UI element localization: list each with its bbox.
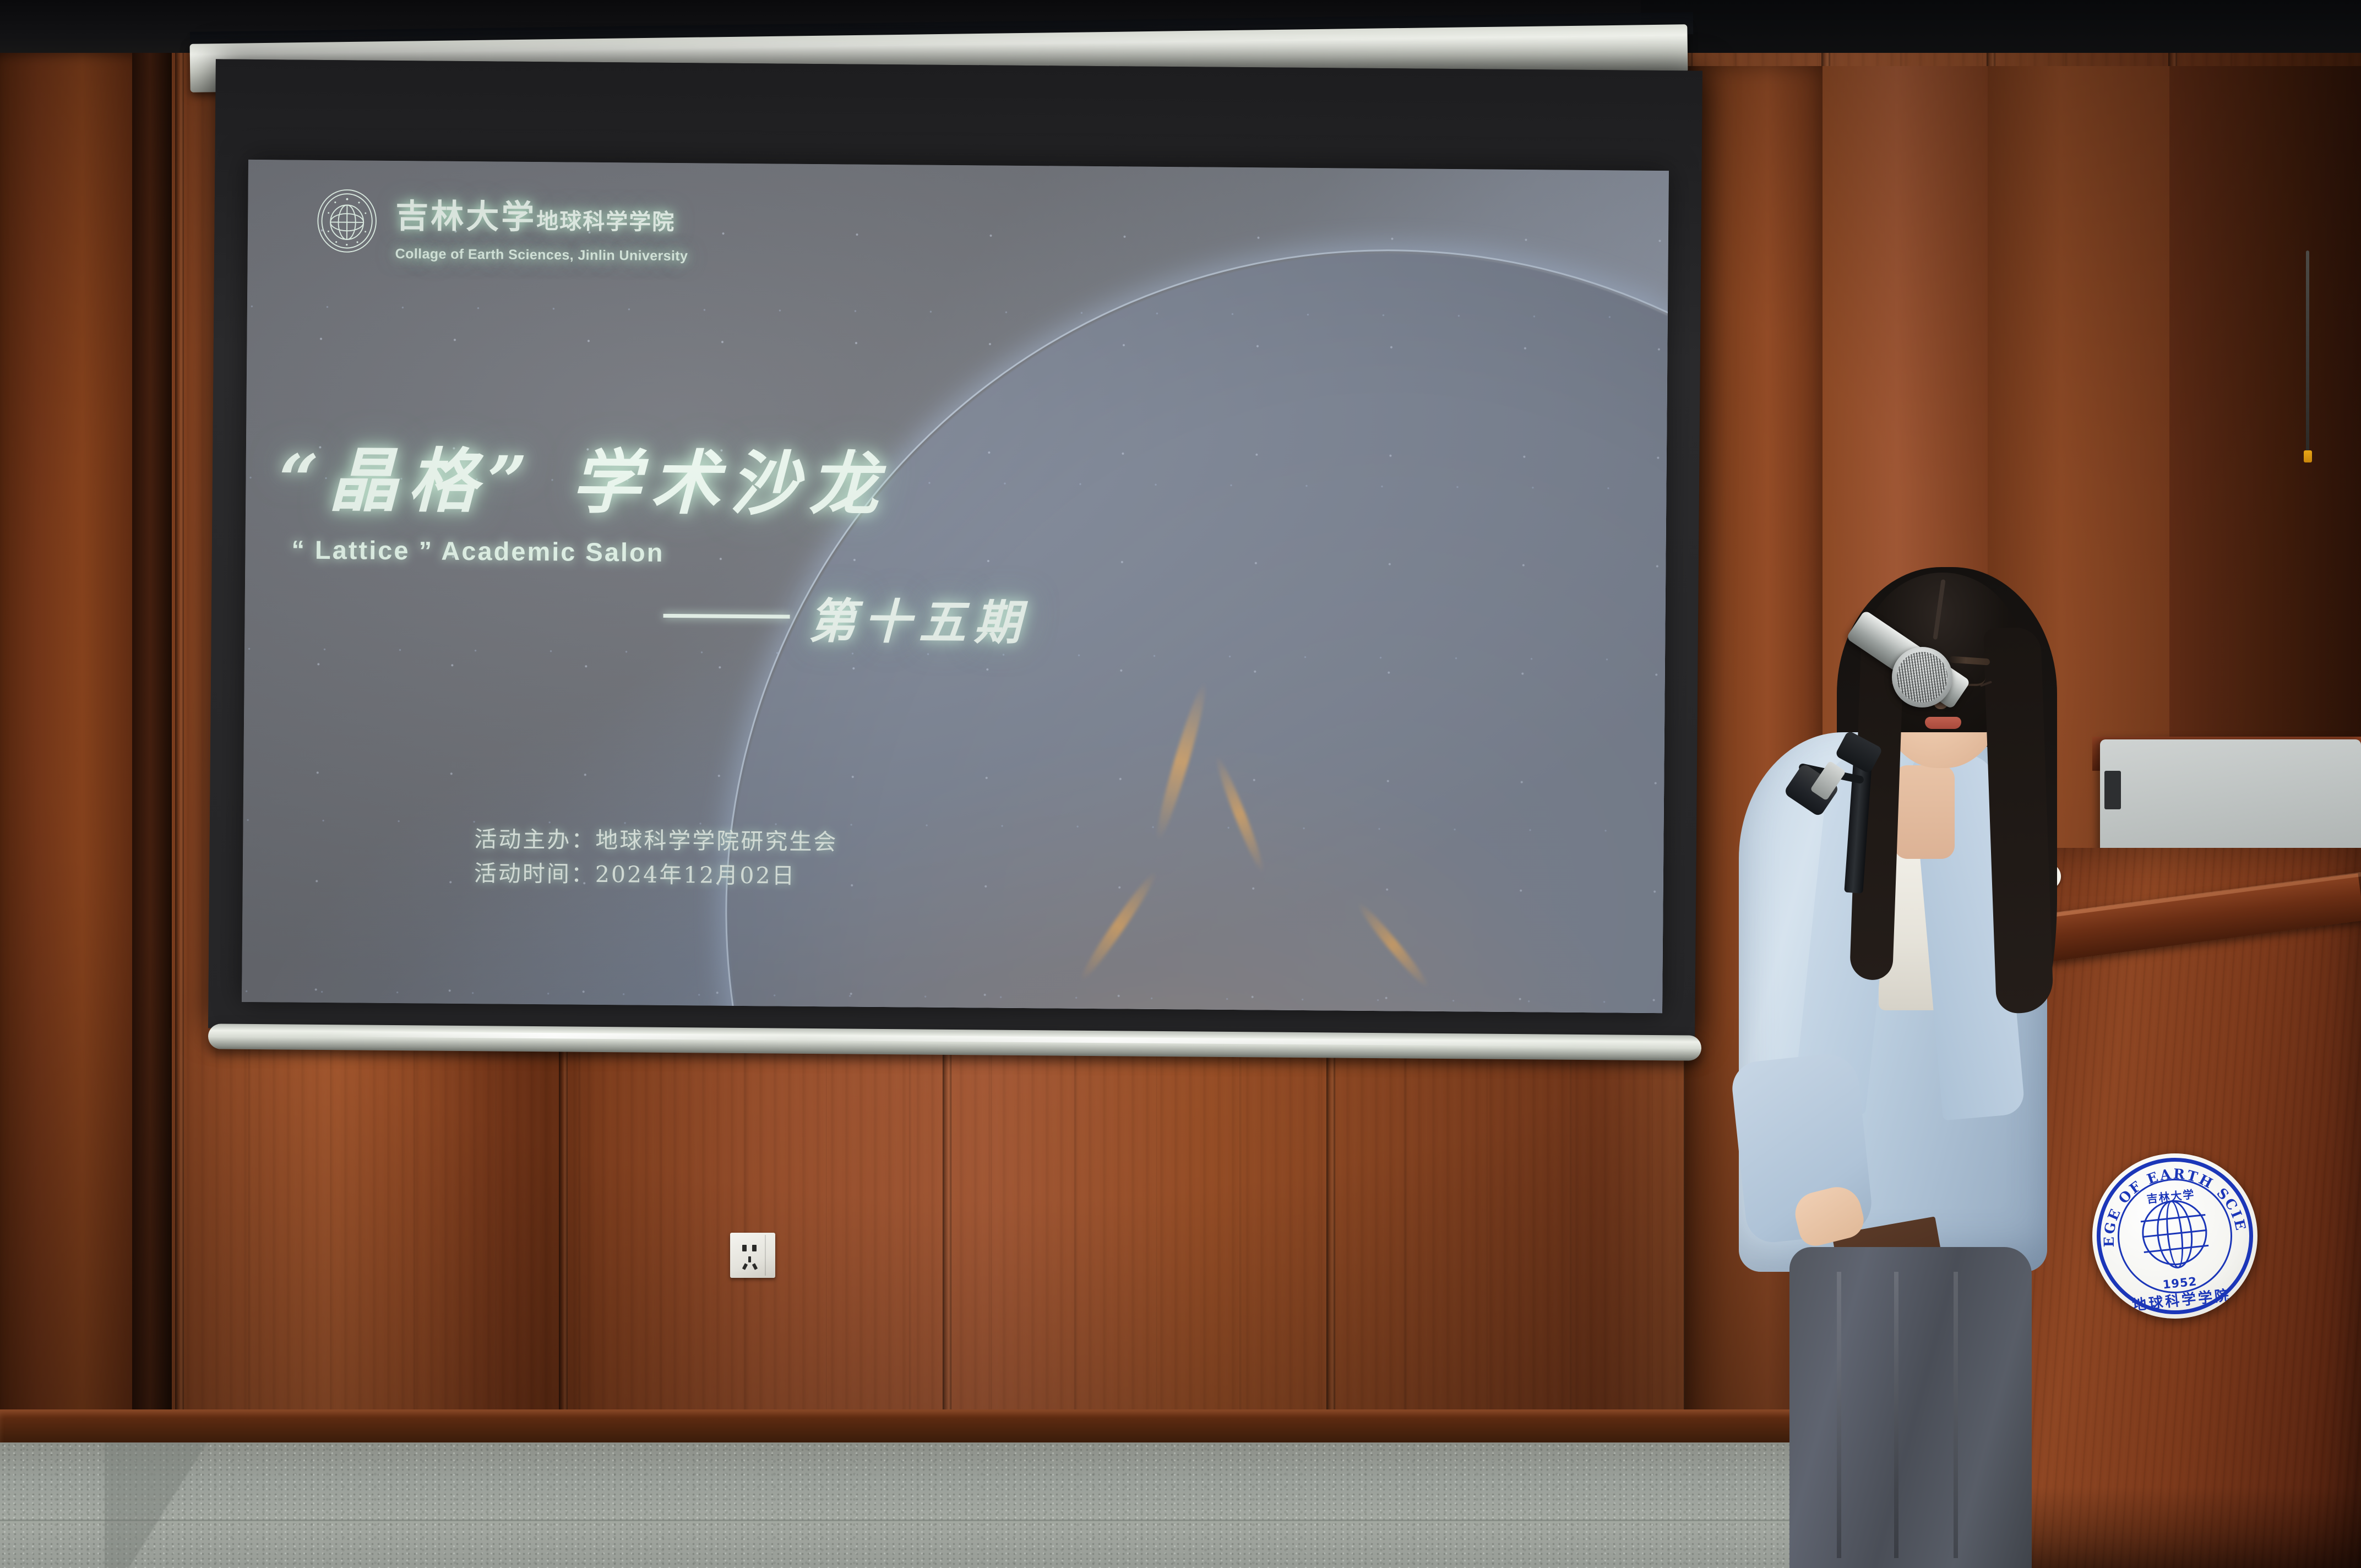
- laptop-hinge: [2104, 771, 2121, 809]
- trouser-fold: [1894, 1272, 1898, 1558]
- outlet-socket-hole: [742, 1263, 748, 1270]
- outlet-socket-hole: [752, 1245, 757, 1251]
- outlet-socket-hole: [742, 1245, 747, 1251]
- outlet-socket-hole: [748, 1256, 751, 1262]
- hanging-cable: [2306, 251, 2309, 454]
- floor-speckle-texture: [0, 1442, 1839, 1568]
- weight-bar-gloss: [328, 1031, 1582, 1047]
- lips: [1925, 717, 1961, 729]
- outlet-socket-hole: [752, 1263, 758, 1270]
- trouser-fold: [1954, 1272, 1958, 1558]
- cable-connector-tip: [2304, 450, 2312, 462]
- projected-slide: 吉林大学地球科学学院 Collage of Earth Sciences, Ji…: [242, 160, 1669, 1013]
- lecture-hall-scene: VX screen: [0, 0, 2361, 1568]
- college-emblem: COLLEGE OF EARTH SCIENCES 吉林大学 1952 地球科学…: [2084, 1145, 2266, 1327]
- trousers: [1789, 1247, 2032, 1568]
- floor-corner-shading: [105, 1442, 237, 1568]
- wall-pilaster-reveal: [132, 53, 172, 1568]
- neck: [1894, 765, 1955, 859]
- outlet-divider: [765, 1235, 766, 1276]
- projection-haze: [242, 160, 1669, 1013]
- floor-tile-seam: [0, 1520, 1839, 1521]
- panel-seam: [175, 53, 184, 1568]
- trouser-fold: [1837, 1272, 1841, 1558]
- wall-outlet[interactable]: [730, 1233, 775, 1278]
